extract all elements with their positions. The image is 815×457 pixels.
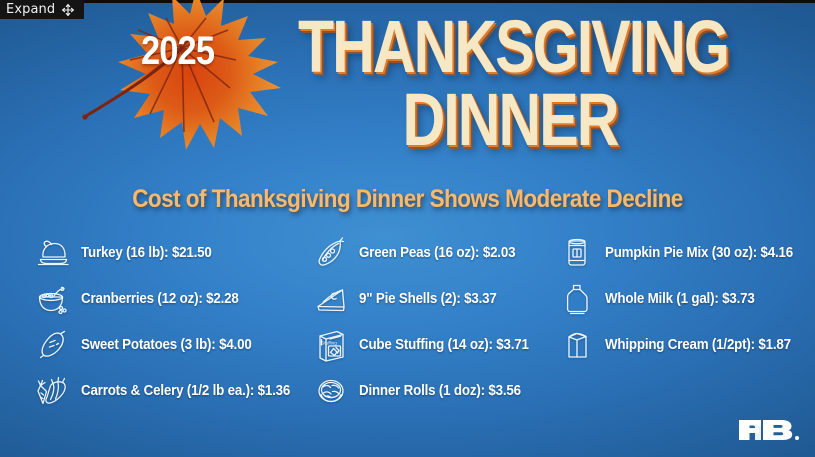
carrots-celery-icon	[34, 372, 72, 410]
list-item-pie-shells: 9" Pie Shells (2): $3.37	[312, 276, 558, 322]
list-item-carrots-celery: Carrots & Celery (1/2 lb ea.): $1.36	[34, 368, 312, 414]
stuffing-box-label: Stuffing	[321, 340, 337, 345]
sweet-potato-icon	[34, 326, 72, 364]
list-item-label: Dinner Rolls (1 doz): $3.56	[359, 383, 521, 399]
list-item-label: Pumpkin Pie Mix (30 oz): $4.16	[605, 245, 793, 261]
milk-jug-icon	[558, 280, 596, 318]
move-arrows-icon	[61, 3, 75, 17]
list-item-dinner-rolls: Dinner Rolls (1 doz): $3.56	[312, 368, 558, 414]
list-item-label: Turkey (16 lb): $21.50	[81, 245, 212, 261]
dinner-roll-icon	[312, 372, 350, 410]
list-item-whole-milk: Whole Milk (1 gal): $3.73	[558, 276, 802, 322]
pea-pod-icon	[312, 234, 350, 272]
year-label: 2025	[141, 31, 214, 71]
list-item-label: 9" Pie Shells (2): $3.37	[359, 291, 497, 307]
list-item-cube-stuffing: Stuffing Cube Stuffing (14 oz): $3.71	[312, 322, 558, 368]
pie-slice-icon	[312, 280, 350, 318]
can-icon	[558, 234, 596, 272]
turkey-platter-icon	[34, 234, 72, 272]
cranberry-bowl-icon	[34, 280, 72, 318]
list-item-cranberries: Cranberries (12 oz): $2.28	[34, 276, 312, 322]
list-item-turkey: Turkey (16 lb): $21.50	[34, 230, 312, 276]
list-item-label: Cranberries (12 oz): $2.28	[81, 291, 239, 307]
farm-bureau-fb-logo	[737, 415, 803, 445]
list-item-green-peas: Green Peas (16 oz): $2.03	[312, 230, 558, 276]
list-item-pumpkin-pie-mix: Pumpkin Pie Mix (30 oz): $4.16	[558, 230, 802, 276]
list-item-sweet-potatoes: Sweet Potatoes (3 lb): $4.00	[34, 322, 312, 368]
title-line-1: THANKSGIVING	[298, 12, 722, 82]
infographic-canvas: 2025 THANKSGIVING DINNER Cost of Thanksg…	[0, 0, 815, 457]
subtitle: Cost of Thanksgiving Dinner Shows Modera…	[41, 185, 775, 213]
list-item-label: Whole Milk (1 gal): $3.73	[605, 291, 755, 307]
list-item-label: Green Peas (16 oz): $2.03	[359, 245, 515, 261]
expand-label: Expand	[6, 3, 55, 16]
list-item-label: Sweet Potatoes (3 lb): $4.00	[81, 337, 252, 353]
list-item-label: Carrots & Celery (1/2 lb ea.): $1.36	[81, 383, 290, 399]
page-title: THANKSGIVING DINNER	[245, 12, 775, 158]
list-item-label: Whipping Cream (1/2pt): $1.87	[605, 337, 791, 353]
dinner-items-grid: Turkey (16 lb): $21.50 Green Peas (16 oz…	[34, 230, 802, 410]
expand-button[interactable]: Expand	[0, 0, 84, 19]
cream-carton-icon	[558, 326, 596, 364]
title-line-2: DINNER	[298, 82, 722, 158]
list-item-whipping-cream: Whipping Cream (1/2pt): $1.87	[558, 322, 802, 368]
stuffing-box-icon: Stuffing	[312, 326, 350, 364]
list-item-label: Cube Stuffing (14 oz): $3.71	[359, 337, 529, 353]
